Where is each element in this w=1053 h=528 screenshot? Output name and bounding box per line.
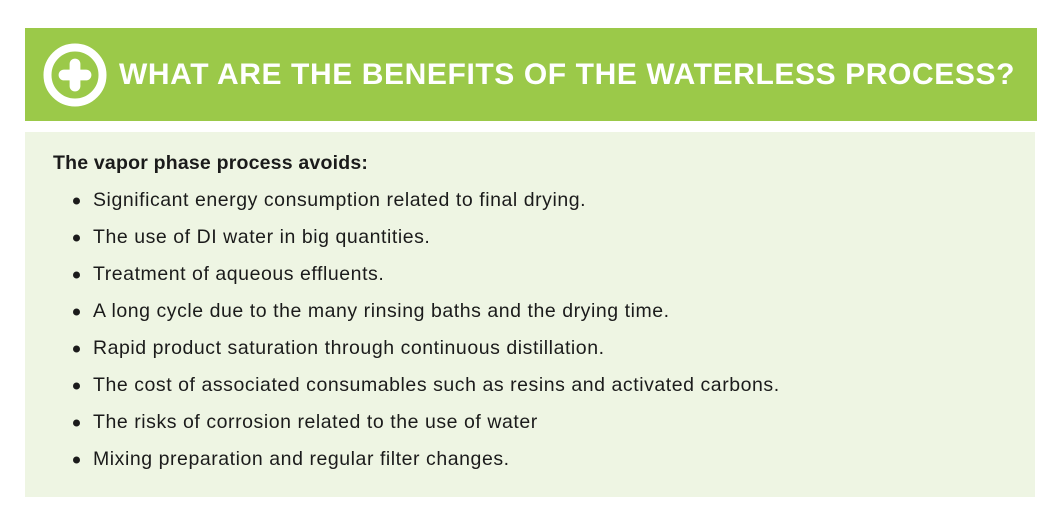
list-item-label: The cost of associated consumables such …: [93, 374, 780, 396]
bullet-icon: [73, 419, 80, 426]
list-item: A long cycle due to the many rinsing bat…: [51, 293, 1009, 330]
bullet-icon: [73, 345, 80, 352]
bullet-icon: [73, 197, 80, 204]
list-item: The use of DI water in big quantities.: [51, 219, 1009, 256]
bullet-icon: [73, 308, 80, 315]
list-item-label: Treatment of aqueous effluents.: [93, 263, 384, 285]
list-item-label: Rapid product saturation through continu…: [93, 337, 605, 359]
list-item: Rapid product saturation through continu…: [51, 330, 1009, 367]
list-item-label: A long cycle due to the many rinsing bat…: [93, 300, 670, 322]
bullet-icon: [73, 234, 80, 241]
list-item: The risks of corrosion related to the us…: [51, 404, 1009, 441]
list-item: Mixing preparation and regular filter ch…: [51, 441, 1009, 478]
list-item: Significant energy consumption related t…: [51, 182, 1009, 219]
bullet-icon: [73, 456, 80, 463]
list-item-label: Mixing preparation and regular filter ch…: [93, 448, 510, 470]
intro-text: The vapor phase process avoids:: [51, 152, 1009, 175]
list-item: Treatment of aqueous effluents.: [51, 256, 1009, 293]
list-item-label: Significant energy consumption related t…: [93, 189, 586, 211]
list-item: The cost of associated consumables such …: [51, 367, 1009, 404]
benefits-list: Significant energy consumption related t…: [51, 182, 1009, 478]
list-item-label: The risks of corrosion related to the us…: [93, 411, 538, 433]
infographic-card: WHAT ARE THE BENEFITS OF THE WATERLESS P…: [0, 0, 1053, 528]
bullet-icon: [73, 382, 80, 389]
plus-circle-icon: [43, 43, 107, 107]
benefits-panel: The vapor phase process avoids: Signific…: [25, 132, 1035, 497]
header-banner: WHAT ARE THE BENEFITS OF THE WATERLESS P…: [25, 28, 1037, 121]
page-title: WHAT ARE THE BENEFITS OF THE WATERLESS P…: [119, 60, 1037, 90]
bullet-icon: [73, 271, 80, 278]
list-item-label: The use of DI water in big quantities.: [93, 226, 430, 248]
